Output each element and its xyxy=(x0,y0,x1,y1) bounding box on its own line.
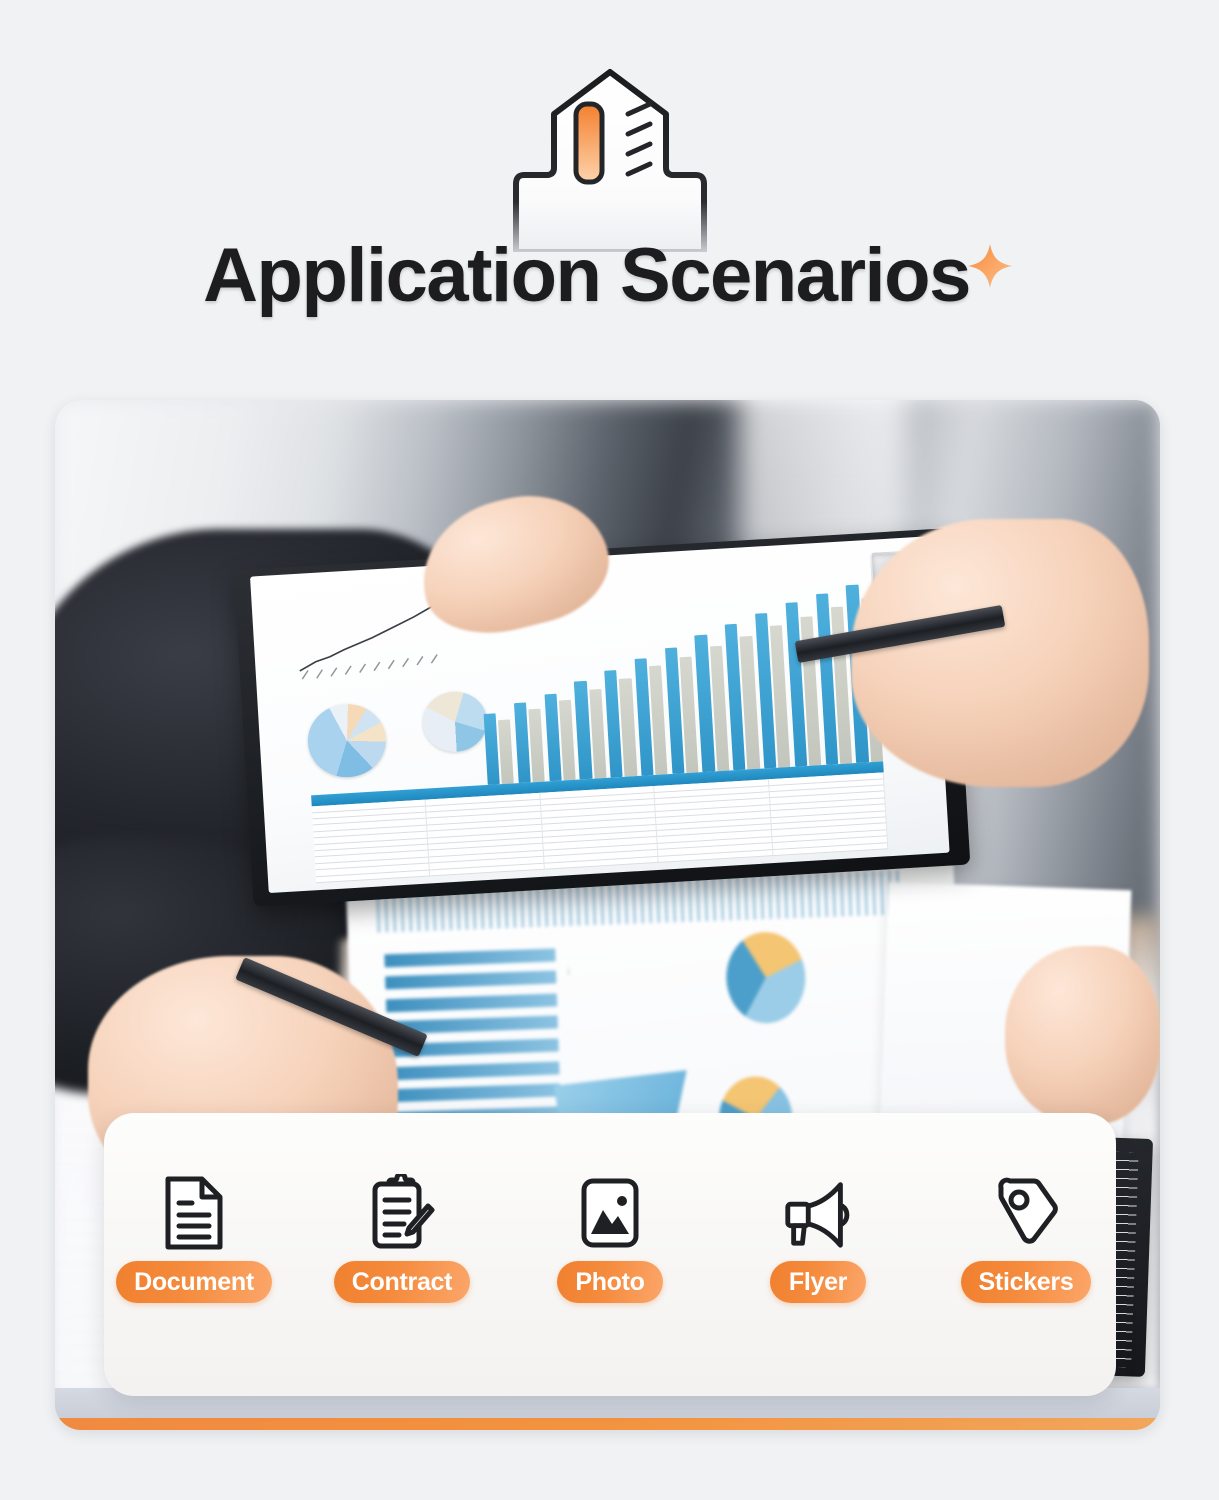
scenario-label-stickers[interactable]: Stickers xyxy=(961,1261,1092,1303)
accent-bottom-bar xyxy=(55,1418,1160,1430)
hero-photo-card: Document xyxy=(55,400,1160,1430)
scenario-item-document[interactable]: Document xyxy=(112,1175,276,1303)
document-page-icon xyxy=(156,1175,232,1251)
application-scenarios-page: Application Scenarios xyxy=(0,0,1219,1500)
scenario-tag-card: Document xyxy=(104,1113,1116,1396)
building-skyscraper-icon xyxy=(500,62,720,252)
image-photo-icon xyxy=(572,1175,648,1251)
page-header: Application Scenarios xyxy=(0,0,1219,360)
megaphone-icon xyxy=(780,1175,856,1251)
scenario-item-photo[interactable]: Photo xyxy=(528,1175,692,1303)
clipboard-pencil-icon xyxy=(364,1175,440,1251)
hand-with-pen-right xyxy=(851,519,1149,787)
report-paper xyxy=(250,536,950,893)
scenario-label-photo[interactable]: Photo xyxy=(557,1261,662,1303)
pie-chart-1 xyxy=(305,702,388,779)
scenario-label-contract[interactable]: Contract xyxy=(334,1261,470,1303)
scenario-item-flyer[interactable]: Flyer xyxy=(736,1175,900,1303)
scenario-item-contract[interactable]: Contract xyxy=(320,1175,484,1303)
page-title: Application Scenarios xyxy=(203,238,970,314)
scenario-label-flyer[interactable]: Flyer xyxy=(770,1261,866,1303)
title-row: Application Scenarios xyxy=(0,238,1219,314)
scenario-item-stickers[interactable]: Stickers xyxy=(944,1175,1108,1303)
hand-bottom-right xyxy=(1005,946,1160,1125)
mini-network-diagram xyxy=(566,917,691,1035)
price-tag-icon xyxy=(988,1175,1064,1251)
sparkle-icon xyxy=(964,240,1016,292)
scenario-list: Document xyxy=(104,1175,1116,1303)
data-table xyxy=(310,761,887,884)
mini-pie-chart-1 xyxy=(725,931,807,1025)
pie-chart-2 xyxy=(421,689,489,753)
scenario-label-document[interactable]: Document xyxy=(116,1261,272,1303)
